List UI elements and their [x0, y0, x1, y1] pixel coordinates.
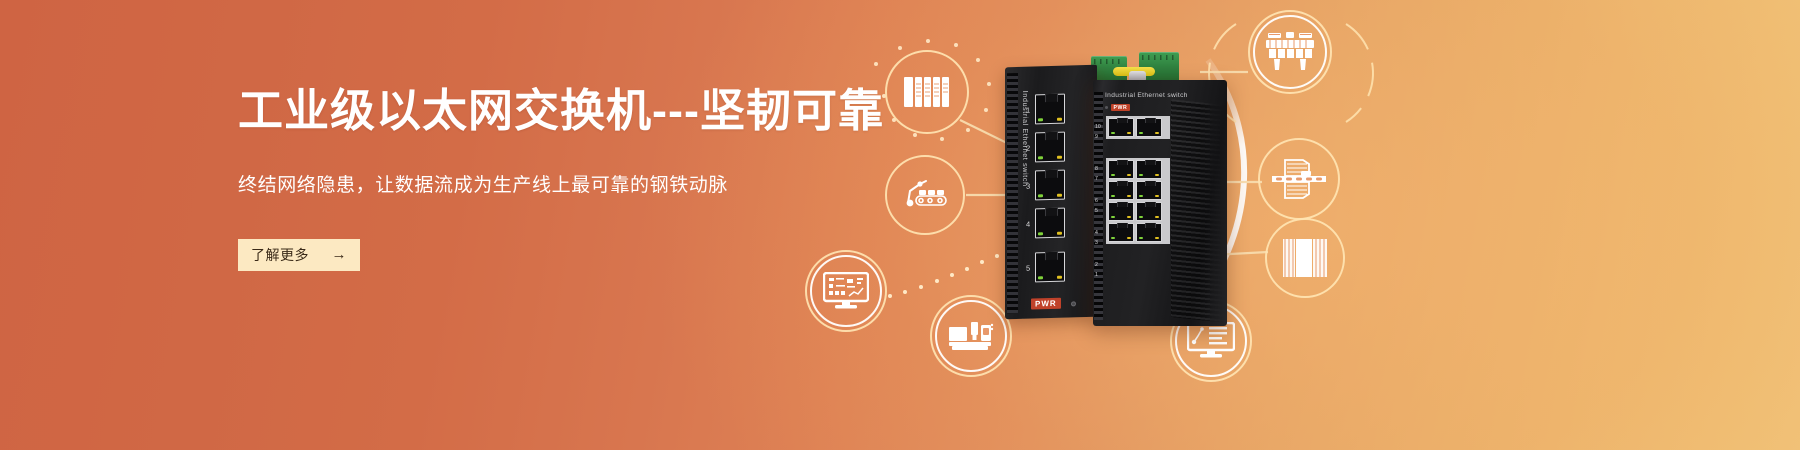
din-rail-mount-glyph: [1271, 156, 1327, 202]
led-number: 9: [1095, 134, 1098, 140]
led-number: 6: [1095, 198, 1098, 204]
port-row: [1108, 160, 1168, 179]
port-row: 2: [1035, 131, 1089, 167]
port-row: [1108, 118, 1168, 137]
monitor-scada-glyph: [823, 272, 869, 310]
power-supply-icon: [1265, 218, 1345, 298]
rj45-port[interactable]: [1035, 252, 1065, 283]
port-row: 5: [1035, 251, 1089, 287]
rj45-port[interactable]: [1035, 94, 1065, 125]
pwr-indicator-row: PWR: [1105, 104, 1130, 111]
port-number: 1: [1026, 106, 1030, 115]
port-number: 3: [1026, 182, 1030, 191]
industrial-pc-glyph: [1187, 322, 1235, 360]
switch-unit-left: Industrial Ethernet switch 1 2 3 4: [1005, 65, 1097, 320]
port-group-top: [1106, 116, 1170, 139]
din-rail-icon: [1258, 138, 1340, 220]
terminal-block-icon: [1248, 10, 1332, 94]
cnc-machine-icon: [930, 295, 1012, 377]
led-number: 1: [1095, 272, 1098, 278]
rj45-port[interactable]: [1108, 160, 1134, 179]
plc-controller-icon: [885, 50, 969, 134]
pwr-badge: PWR: [1111, 104, 1130, 111]
arrow-right-icon: →: [332, 247, 348, 262]
rj45-port[interactable]: [1136, 160, 1162, 179]
port-row: 4: [1035, 207, 1089, 243]
hero-subtitle: 终结网络隐患，让数据流成为生产线上最可靠的钢铁动脉: [238, 172, 858, 201]
led-number: 3: [1095, 240, 1098, 246]
rj45-port[interactable]: [1136, 202, 1162, 221]
led-number: 4: [1095, 230, 1098, 236]
port-number: 2: [1026, 144, 1030, 153]
learn-more-label: 了解更多: [251, 248, 309, 262]
rj45-port[interactable]: [1035, 208, 1065, 239]
power-supply-glyph: [1282, 238, 1328, 278]
switch-unit-right: Industrial Ethernet switch PWR: [1093, 80, 1227, 326]
hero-text-block: 工业级以太网交换机---坚韧可靠 终结网络隐患，让数据流成为生产线上最可靠的钢铁…: [238, 86, 858, 271]
led-number: 8: [1095, 166, 1098, 172]
led-number: 5: [1095, 208, 1098, 214]
pwr-badge: PWR: [1031, 298, 1061, 310]
robot-conveyor-icon: [885, 155, 965, 235]
led-number: 2: [1095, 262, 1098, 268]
switch-devices: Industrial Ethernet switch 1 2 3 4: [1005, 28, 1225, 326]
learn-more-button[interactable]: 了解更多 →: [238, 239, 360, 271]
terminal-wiring-glyph: [1264, 31, 1316, 73]
rj45-port[interactable]: [1136, 223, 1162, 242]
port-number: 5: [1026, 264, 1030, 273]
page-title: 工业级以太网交换机---坚韧可靠: [238, 86, 858, 136]
robot-arm-conveyor-glyph: [900, 177, 950, 213]
rj45-port[interactable]: [1136, 181, 1162, 200]
port-row: [1108, 202, 1168, 221]
cnc-lathe-glyph: [948, 319, 994, 353]
rj45-port[interactable]: [1108, 202, 1134, 221]
vent-slots-left: [1007, 73, 1018, 313]
port-row: [1108, 223, 1168, 242]
hero-banner: Industrial Ethernet switch 1 2 3 4: [0, 0, 1800, 450]
heatsink-fins: [1171, 99, 1225, 323]
port-row: 1: [1035, 93, 1089, 129]
rj45-port[interactable]: [1136, 118, 1162, 137]
rj45-port[interactable]: [1108, 181, 1134, 200]
device-top-label: Industrial Ethernet switch: [1105, 92, 1188, 99]
rj45-port[interactable]: [1035, 132, 1065, 163]
rj45-port[interactable]: [1108, 223, 1134, 242]
port-row: 3: [1035, 169, 1089, 205]
port-column-left: 1 2 3 4 5: [1035, 93, 1089, 291]
terminal-connectors: [1091, 36, 1231, 82]
rj45-port[interactable]: [1035, 170, 1065, 201]
port-group-main: [1106, 158, 1170, 244]
pwr-led: [1071, 301, 1076, 306]
port-number: 4: [1026, 220, 1030, 229]
led-number: 7: [1095, 176, 1098, 182]
led-number: 10: [1095, 124, 1101, 130]
port-row: [1108, 181, 1168, 200]
plc-rack-glyph: [904, 75, 950, 109]
rj45-port[interactable]: [1108, 118, 1134, 137]
